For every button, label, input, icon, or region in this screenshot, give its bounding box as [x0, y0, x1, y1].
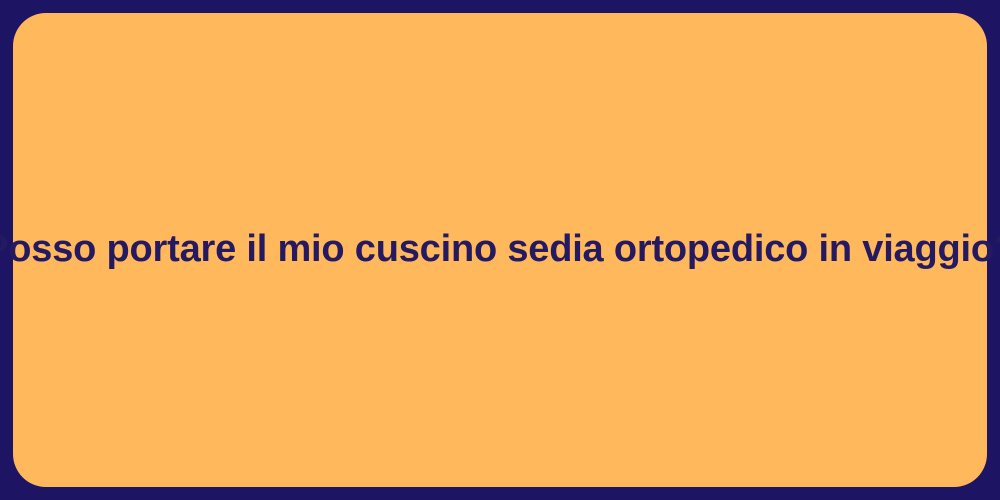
- question-card: Posso portare il mio cuscino sedia ortop…: [13, 13, 987, 487]
- page-title: Posso portare il mio cuscino sedia ortop…: [0, 225, 1000, 274]
- outer-frame: Posso portare il mio cuscino sedia ortop…: [0, 0, 1000, 500]
